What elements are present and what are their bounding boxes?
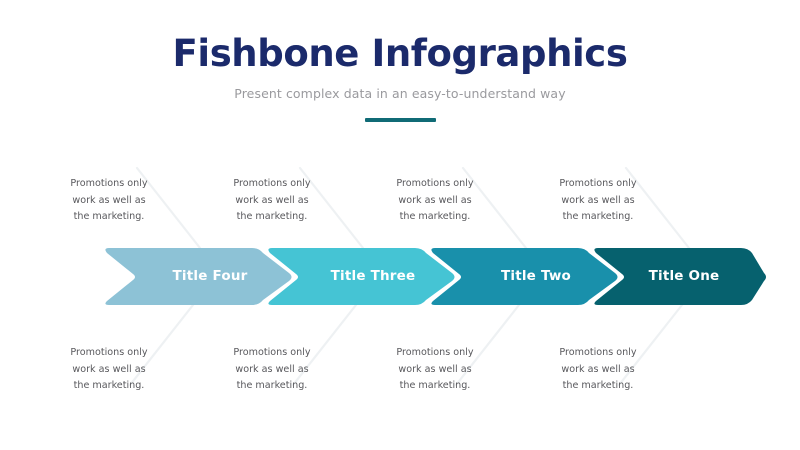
note-top-4: Promotions only work as well as the mark… — [532, 176, 664, 226]
fishbone-diagram: Title Four Title Three Title Two Title O… — [0, 0, 800, 450]
note-line: Promotions only — [206, 176, 338, 193]
note-line: work as well as — [43, 362, 175, 379]
note-top-2: Promotions only work as well as the mark… — [206, 176, 338, 226]
slide-canvas: Fishbone Infographics Present complex da… — [0, 0, 800, 450]
note-line: Promotions only — [532, 176, 664, 193]
note-line: Promotions only — [532, 345, 664, 362]
note-line: the marketing. — [532, 378, 664, 395]
note-line: the marketing. — [206, 209, 338, 226]
note-line: work as well as — [206, 193, 338, 210]
chevron-label-stage-4[interactable]: Title One — [614, 248, 754, 305]
note-top-3: Promotions only work as well as the mark… — [369, 176, 501, 226]
note-line: Promotions only — [369, 345, 501, 362]
note-top-1: Promotions only work as well as the mark… — [43, 176, 175, 226]
note-line: work as well as — [532, 362, 664, 379]
note-line: work as well as — [532, 193, 664, 210]
note-line: Promotions only — [369, 176, 501, 193]
note-line: the marketing. — [43, 209, 175, 226]
note-line: the marketing. — [532, 209, 664, 226]
note-line: Promotions only — [43, 345, 175, 362]
note-bottom-3: Promotions only work as well as the mark… — [369, 345, 501, 395]
note-line: work as well as — [43, 193, 175, 210]
note-line: Promotions only — [206, 345, 338, 362]
note-line: work as well as — [206, 362, 338, 379]
chevron-label-stage-1[interactable]: Title Four — [140, 248, 280, 305]
note-line: the marketing. — [369, 378, 501, 395]
note-line: work as well as — [369, 362, 501, 379]
note-line: Promotions only — [43, 176, 175, 193]
chevron-label-stage-3[interactable]: Title Two — [466, 248, 606, 305]
note-bottom-1: Promotions only work as well as the mark… — [43, 345, 175, 395]
chevron-label-stage-2[interactable]: Title Three — [303, 248, 443, 305]
note-bottom-4: Promotions only work as well as the mark… — [532, 345, 664, 395]
note-line: the marketing. — [369, 209, 501, 226]
note-line: the marketing. — [206, 378, 338, 395]
note-line: the marketing. — [43, 378, 175, 395]
note-bottom-2: Promotions only work as well as the mark… — [206, 345, 338, 395]
note-line: work as well as — [369, 193, 501, 210]
